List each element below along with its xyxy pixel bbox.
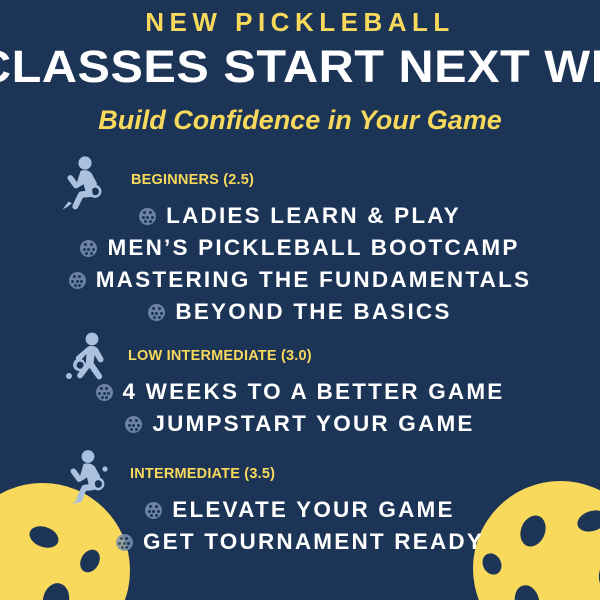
class-name: LADIES LEARN & PLAY: [166, 205, 461, 228]
class-name: MEN’S PICKLEBALL BOOTCAMP: [107, 237, 519, 260]
pickleball-player-forehand-icon: [58, 154, 120, 216]
eyebrow-text: NEW PICKLEBALL: [0, 9, 600, 36]
pickleball-bullet-icon: [116, 534, 133, 551]
class-name: GET TOURNAMENT READY: [143, 531, 484, 554]
pickleball-bullet-icon: [69, 272, 86, 289]
class-name: 4 WEEKS TO A BETTER GAME: [123, 381, 505, 404]
class-name: ELEVATE YOUR GAME: [172, 499, 454, 522]
class-name: JUMPSTART YOUR GAME: [152, 413, 474, 436]
level-header: LOW INTERMEDIATE (3.0): [0, 332, 600, 376]
pickleball-bullet-icon: [80, 240, 97, 257]
poster-canvas: NEW PICKLEBALL CLASSES START NEXT WEEK B…: [0, 0, 600, 600]
level-section-low-intermediate: LOW INTERMEDIATE (3.0) 4 WEEKS TO A BETT…: [0, 332, 600, 440]
class-name: BEYOND THE BASICS: [175, 301, 451, 324]
page-title: CLASSES START NEXT WEEK: [0, 44, 600, 89]
level-label-beginners: BEGINNERS (2.5): [131, 172, 254, 188]
pickleball-bullet-icon: [145, 502, 162, 519]
pickleball-hole: [511, 583, 542, 600]
pickleball-bullet-icon: [148, 304, 165, 321]
pickleball-player-lowvolley-icon: [58, 330, 120, 392]
list-item[interactable]: GET TOURNAMENT READY: [0, 526, 600, 558]
level-label-intermediate: INTERMEDIATE (3.5): [130, 466, 275, 482]
level-header: INTERMEDIATE (3.5): [0, 450, 600, 494]
level-label-low-intermediate: LOW INTERMEDIATE (3.0): [128, 348, 312, 364]
list-item[interactable]: MEN’S PICKLEBALL BOOTCAMP: [0, 232, 600, 264]
list-item[interactable]: BEYOND THE BASICS: [0, 296, 600, 328]
class-levels-container: BEGINNERS (2.5) LADIES LEARN & PLAY MEN’…: [0, 156, 600, 558]
level-section-beginners: BEGINNERS (2.5) LADIES LEARN & PLAY MEN’…: [0, 156, 600, 328]
pickleball-player-dink-icon: [58, 448, 120, 510]
pickleball-bullet-icon: [96, 384, 113, 401]
list-item[interactable]: JUMPSTART YOUR GAME: [0, 408, 600, 440]
poster-header: NEW PICKLEBALL CLASSES START NEXT WEEK B…: [0, 0, 600, 134]
list-item[interactable]: MASTERING THE FUNDAMENTALS: [0, 264, 600, 296]
class-name: MASTERING THE FUNDAMENTALS: [96, 269, 532, 292]
pickleball-bullet-icon: [125, 416, 142, 433]
pickleball-hole: [40, 581, 73, 600]
level-section-intermediate: INTERMEDIATE (3.5) ELEVATE YOUR GAME GET…: [0, 450, 600, 558]
subheadline-text: Build Confidence in Your Game: [0, 107, 600, 134]
pickleball-bullet-icon: [139, 208, 156, 225]
class-list-beginners: LADIES LEARN & PLAY MEN’S PICKLEBALL BOO…: [0, 200, 600, 328]
level-header: BEGINNERS (2.5): [0, 156, 600, 200]
